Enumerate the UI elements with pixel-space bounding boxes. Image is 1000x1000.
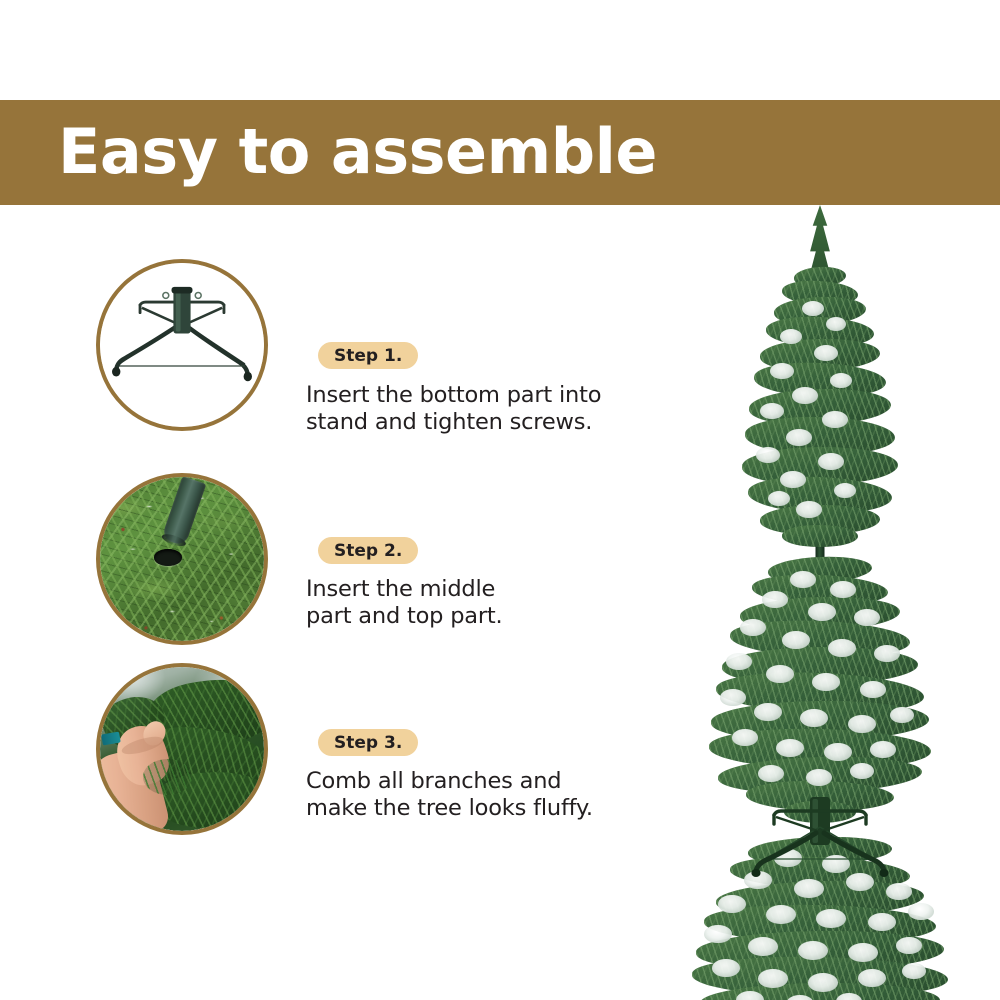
snow-tip (726, 653, 752, 670)
snow-tip (766, 665, 794, 683)
snow-tip (740, 619, 766, 636)
snow-tip (798, 941, 828, 960)
step-3-text: Comb all branches and make the tree look… (306, 768, 593, 822)
snow-tip (870, 741, 896, 758)
snow-tip (830, 581, 856, 598)
snow-tip (760, 403, 784, 419)
snow-tip (790, 571, 816, 588)
snow-tip (808, 603, 836, 621)
snow-tip (704, 925, 732, 943)
snow-tip (896, 937, 922, 954)
snow-tip (848, 943, 878, 962)
hand-combing-photo (100, 667, 264, 831)
snow-tip (786, 429, 812, 446)
snow-tip (812, 673, 840, 691)
frond (782, 525, 858, 547)
snow-tip (902, 963, 926, 979)
snow-tip (860, 681, 886, 698)
snow-tip (868, 913, 896, 931)
snow-tip (754, 703, 782, 721)
snow-tip (886, 883, 912, 900)
promo-page: Easy to assemble (0, 0, 1000, 1000)
step-3-block: Step 3. Comb all branches and make the t… (0, 0, 650, 1000)
snow-tip (854, 609, 880, 626)
snow-tip (720, 689, 746, 706)
snow-tip (806, 769, 832, 786)
snow-tip (780, 329, 802, 344)
snow-tip (776, 739, 804, 757)
snow-tip (758, 969, 788, 988)
snow-tip (826, 317, 846, 331)
step-3-image-frame (96, 663, 268, 835)
snow-tip (768, 491, 790, 506)
snow-tip (848, 715, 876, 733)
snow-tipped-christmas-tree (690, 205, 950, 895)
snow-tip (766, 905, 796, 924)
snow-tip (762, 591, 788, 608)
tree-stand (740, 797, 900, 877)
snow-tip (800, 709, 828, 727)
snow-tip (858, 969, 886, 987)
snow-tip (818, 453, 844, 470)
snow-tip (814, 345, 838, 361)
snow-tip (782, 631, 810, 649)
snow-tip (718, 895, 746, 913)
snow-tip (828, 639, 856, 657)
snow-tip (808, 973, 838, 992)
snow-tip (796, 501, 822, 518)
snow-tip (874, 645, 900, 662)
tree-section-middle (702, 557, 938, 829)
snow-tip (816, 909, 846, 928)
step-3-badge: Step 3. (318, 729, 418, 756)
snow-tip (802, 301, 824, 316)
snow-tip (756, 447, 780, 463)
snow-tip (780, 471, 806, 488)
snow-tip (822, 411, 848, 428)
snow-tip (824, 743, 852, 761)
snow-tip (758, 765, 784, 782)
snow-tip (770, 363, 794, 379)
snow-tip (732, 729, 758, 746)
snow-tip (794, 879, 824, 898)
snow-tip (792, 387, 818, 404)
snow-tip (748, 937, 778, 956)
snow-tip (834, 483, 856, 498)
snow-tip (908, 903, 934, 920)
snow-tip (830, 373, 852, 388)
snow-tip (850, 763, 874, 779)
snow-tip (712, 959, 740, 977)
branch-tip-front (143, 759, 192, 795)
tree-section-top (730, 205, 910, 550)
snow-tip (890, 707, 914, 723)
